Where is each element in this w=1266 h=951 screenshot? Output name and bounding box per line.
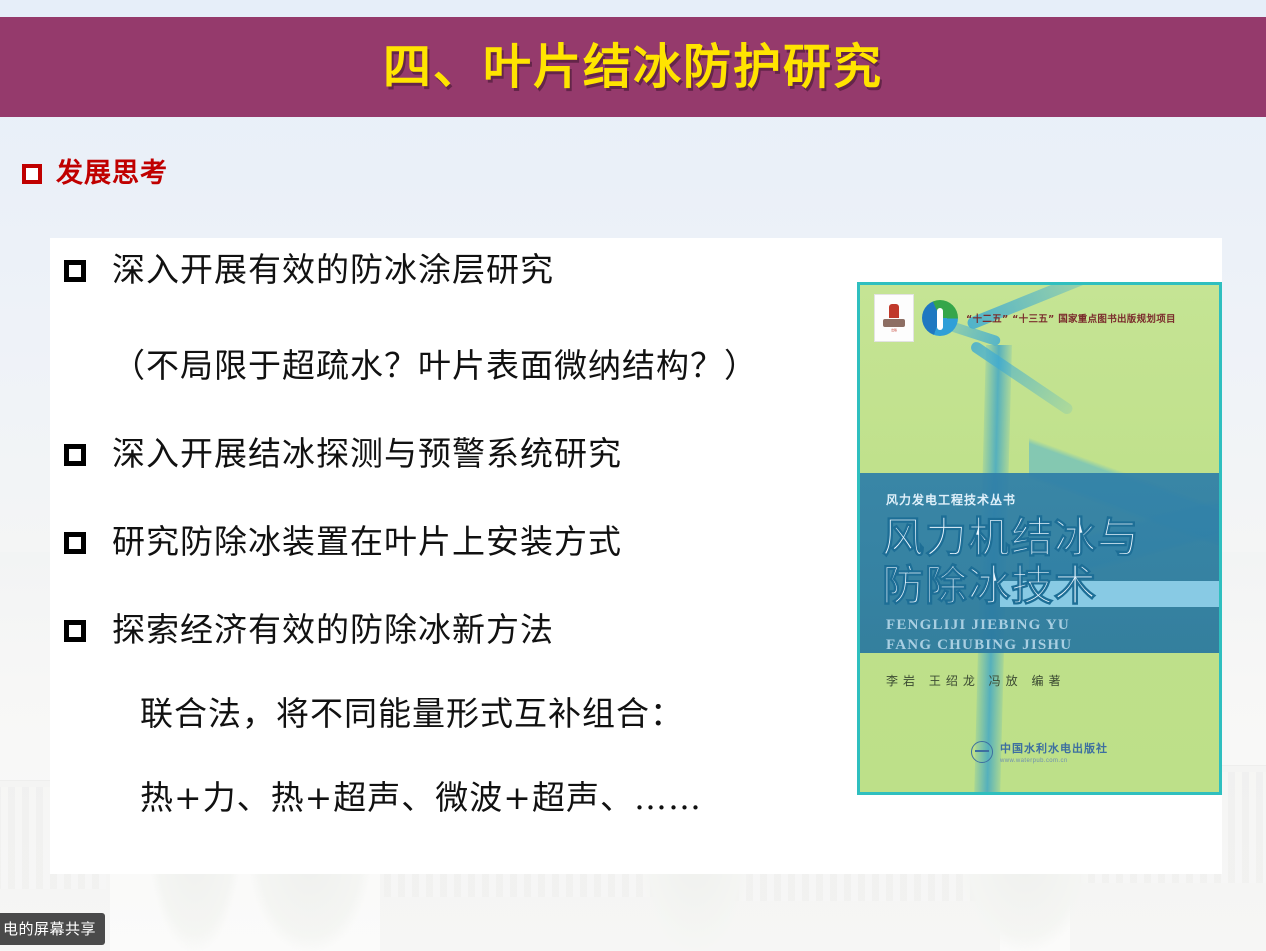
- list-item: 联合法，将不同能量形式互补组合：: [50, 696, 870, 740]
- list-item: 热+力、热+超声、微波+超声、……: [50, 780, 870, 824]
- book-top-badges: 出版 “十二五” “十三五” 国家重点图书出版规划项目: [874, 295, 1209, 341]
- section-heading: 发展思考: [22, 160, 168, 187]
- section-heading-label: 发展思考: [56, 160, 168, 187]
- list-item: 研究防除冰装置在叶片上安装方式: [50, 524, 870, 568]
- list-item: 探索经济有效的防除冰新方法: [50, 612, 870, 656]
- bullet-list: 深入开展有效的防冰涂层研究 （不局限于超疏水？叶片表面微纳结构？） 深入开展结冰…: [50, 252, 870, 824]
- list-item-label: 研究防除冰装置在叶片上安装方式: [112, 524, 622, 560]
- spacer: [50, 568, 870, 612]
- red-square-bullet-icon: [22, 164, 42, 184]
- square-bullet-icon: [64, 620, 86, 642]
- slide-canvas: 四、叶片结冰防护研究 发展思考 深入开展有效的防冰涂层研究 （不局限于超疏水？叶…: [0, 0, 1266, 951]
- book-plan-label: “十二五” “十三五” 国家重点图书出版规划项目: [966, 311, 1176, 325]
- book-series-label: 风力发电工程技术丛书: [886, 491, 1016, 508]
- list-item-label: 探索经济有效的防除冰新方法: [112, 612, 554, 648]
- spacer: [50, 480, 870, 524]
- list-item: （不局限于超疏水？叶片表面微纳结构？）: [50, 348, 870, 392]
- book-pinyin-line1: FENGLIJI JIEBING YU: [886, 617, 1070, 634]
- list-item: 深入开展结冰探测与预警系统研究: [50, 436, 870, 480]
- square-bullet-icon: [64, 444, 86, 466]
- publisher-url: www.waterpub.com.cn: [1000, 758, 1108, 764]
- slide-title-band: 四、叶片结冰防护研究: [0, 17, 1266, 117]
- list-item-label: 热+力、热+超声、微波+超声、……: [140, 780, 702, 816]
- list-item-label: 深入开展有效的防冰涂层研究: [112, 252, 554, 288]
- spacer: [50, 740, 870, 780]
- spacer: [50, 296, 870, 348]
- square-bullet-icon: [64, 532, 86, 554]
- list-item-label: 深入开展结冰探测与预警系统研究: [112, 436, 622, 472]
- page-title: 四、叶片结冰防护研究: [383, 43, 883, 91]
- square-bullet-icon: [64, 260, 86, 282]
- publisher-logo-icon: [971, 741, 993, 763]
- book-pinyin-line2: FANG CHUBING JISHU: [886, 637, 1072, 654]
- list-item: 深入开展有效的防冰涂层研究: [50, 252, 870, 296]
- book-publisher: 中国水利水电出版社 www.waterpub.com.cn: [860, 740, 1219, 764]
- screen-share-badge: 电的屏幕共享: [0, 913, 105, 945]
- book-authors-label: 李岩 王绍龙 冯放 编著: [886, 672, 1065, 689]
- publisher-emblem-icon: [922, 300, 958, 336]
- award-seal-icon: 出版: [874, 294, 914, 342]
- spacer: [50, 656, 870, 696]
- spacer: [50, 392, 870, 436]
- publisher-name: 中国水利水电出版社: [1000, 740, 1108, 756]
- book-cover-image: 出版 “十二五” “十三五” 国家重点图书出版规划项目 风力发电工程技术丛书 风…: [857, 282, 1222, 795]
- list-item-label: （不局限于超疏水？叶片表面微纳结构？）: [112, 348, 758, 384]
- list-item-label: 联合法，将不同能量形式互补组合：: [140, 696, 684, 732]
- book-title-line1: 风力机结冰与: [882, 517, 1140, 559]
- book-title-line2: 防除冰技术: [882, 565, 1097, 607]
